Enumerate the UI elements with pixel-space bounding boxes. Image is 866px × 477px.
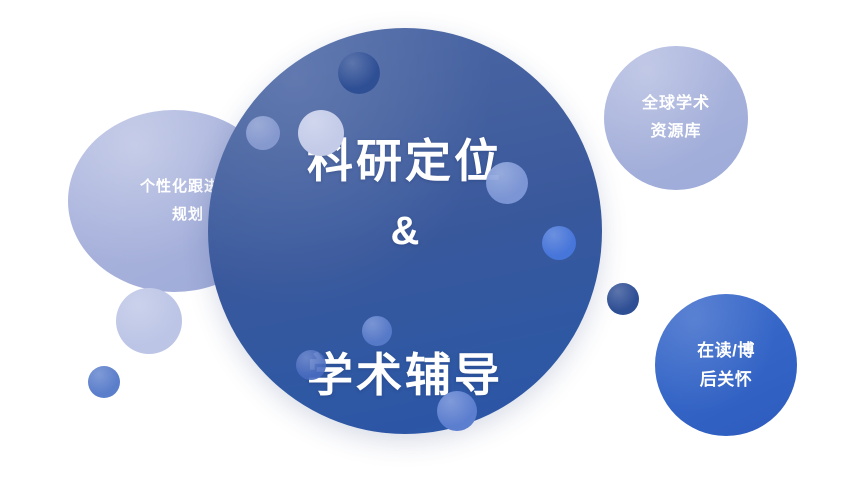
- bubble-main-ampersand: &: [307, 199, 503, 264]
- bubble-main-text: 科研定位 & 学术辅导: [307, 50, 503, 413]
- bubble-phd-postdoc-care[interactable]: 在读/博 后关怀: [655, 294, 797, 436]
- deco-dark-right: [607, 283, 639, 315]
- bubble-main-research-positioning[interactable]: 科研定位 & 学术辅导: [208, 28, 602, 434]
- bubble-global-academic-resources-label: 全球学术 资源库: [642, 90, 710, 146]
- bubble-main-line1: 科研定位: [307, 135, 503, 187]
- bubble-global-academic-resources[interactable]: 全球学术 资源库: [604, 46, 748, 190]
- bubble-main-line2: 学术辅导: [307, 349, 503, 401]
- bubble-phd-postdoc-care-label: 在读/博 后关怀: [697, 336, 755, 394]
- deco-pale-left-bottom: [116, 288, 182, 354]
- deco-small-left: [88, 366, 120, 398]
- bubble-diagram-canvas: 个性化跟进和 规划 科研定位 & 学术辅导 全球学术 资源库 在读/博 后关怀: [0, 0, 866, 477]
